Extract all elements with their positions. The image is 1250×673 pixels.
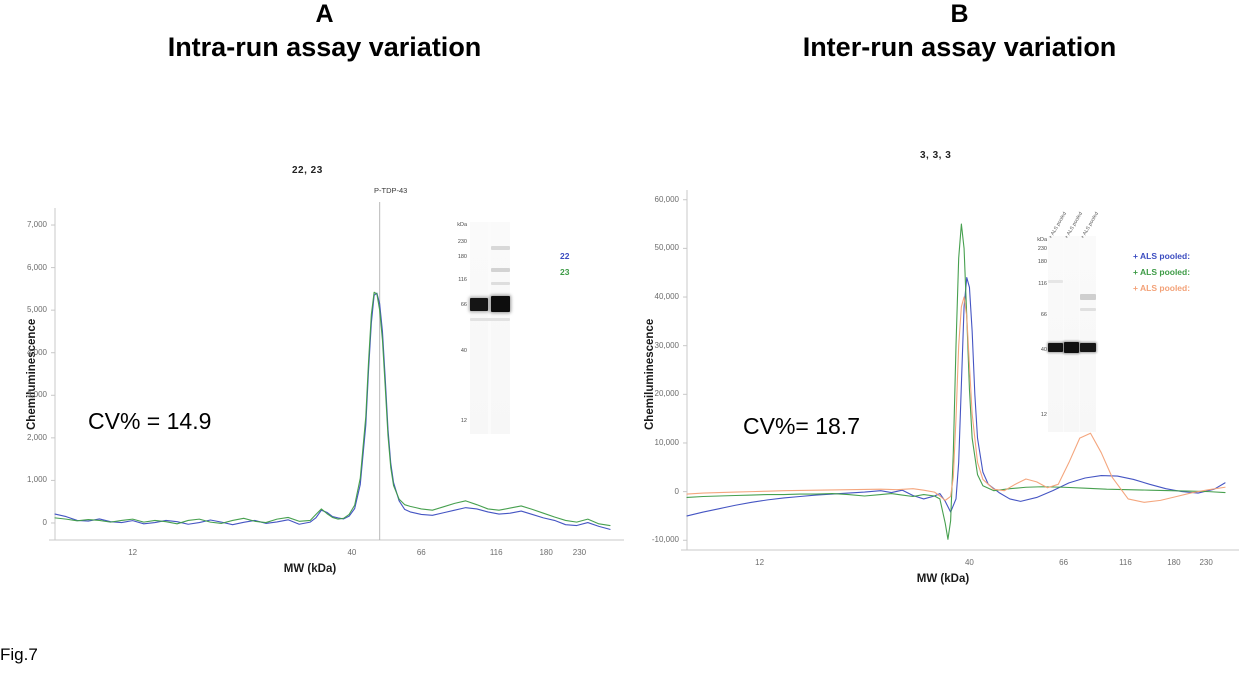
panel-a-letter: A — [12, 0, 637, 29]
blot-lane-2 — [491, 222, 510, 434]
panel-a: A Intra-run assay variation 22, 23 Chemi… — [0, 0, 625, 673]
ytick-label: 6,000 — [0, 263, 47, 272]
panel-b-blot-image — [1048, 236, 1096, 432]
panel-a-legend: 22 23 — [560, 248, 569, 280]
blot-b-band-faint-116 — [1048, 280, 1063, 283]
figure-caption: Fig.7 — [0, 645, 38, 665]
blot-band-faint-lower — [470, 318, 510, 321]
ytick-label: 5,000 — [0, 305, 47, 314]
ytick-label: 20,000 — [627, 389, 679, 398]
blot-b-ladder-116: 116 — [1023, 281, 1047, 287]
panel-a-title: Intra-run assay variation — [12, 32, 637, 63]
panel-a-ylabel: Chemiluminescence — [26, 319, 38, 430]
panel-a-chart-head: 22, 23 — [292, 165, 323, 176]
xtick-label: 116 — [476, 548, 516, 557]
ytick-label: 1,000 — [0, 475, 47, 484]
blot-b-band-faint-55 — [1080, 308, 1096, 311]
ytick-label: 7,000 — [0, 220, 47, 229]
ytick-label: 3,000 — [0, 390, 47, 399]
xtick-label: 230 — [1186, 558, 1226, 567]
panel-b-chart-head: 3, 3, 3 — [920, 150, 951, 161]
blot-b-band-faint-66 — [1080, 294, 1096, 300]
legend-item-als-2: + ALS pooled: — [1133, 264, 1190, 280]
panel-b: B Inter-run assay variation 3, 3, 3 Chem… — [625, 0, 1250, 673]
panel-a-trace-svg — [0, 180, 625, 580]
blot-ladder-66: 66 — [443, 302, 467, 308]
blot-lane-1 — [470, 222, 488, 434]
ytick-label: 0 — [627, 487, 679, 496]
blot-band-2 — [491, 296, 510, 312]
panel-b-trace-svg — [625, 180, 1250, 580]
blot-b-ladder-40: 40 — [1023, 347, 1047, 353]
ytick-label: 30,000 — [627, 341, 679, 350]
panel-b-legend: + ALS pooled: + ALS pooled: + ALS pooled… — [1133, 248, 1190, 296]
ytick-label: -10,000 — [627, 535, 679, 544]
xtick-label: 66 — [401, 548, 441, 557]
panel-b-plot — [625, 180, 1250, 580]
panel-a-peak-label: P-TDP-43 — [374, 186, 407, 195]
blot-ladder-40: 40 — [443, 348, 467, 354]
blot-band-faint-116 — [491, 268, 510, 272]
xtick-label: 40 — [949, 558, 989, 567]
blot-ladder-116: 116 — [443, 277, 467, 283]
blot-b-lane-3 — [1080, 236, 1096, 432]
panel-a-blot-image — [470, 222, 510, 434]
xtick-label: 40 — [332, 548, 372, 557]
blot-b-lane-1 — [1048, 236, 1063, 432]
blot-band-faint-230 — [491, 246, 510, 250]
ytick-label: 50,000 — [627, 243, 679, 252]
blot-ladder-230: 230 — [443, 239, 467, 245]
xtick-label: 66 — [1044, 558, 1084, 567]
blot-b-ladder-12: 12 — [1023, 412, 1047, 418]
panel-b-title: Inter-run assay variation — [647, 32, 1250, 63]
xtick-label: 12 — [740, 558, 780, 567]
legend-item-22: 22 — [560, 248, 569, 264]
panel-b-cv-value: CV%= 18.7 — [743, 413, 860, 440]
blot-ladder-12: 12 — [443, 418, 467, 424]
ytick-label: 4,000 — [0, 348, 47, 357]
blot-b-band-1 — [1048, 343, 1063, 352]
panel-a-plot — [0, 180, 625, 580]
xtick-label: 230 — [559, 548, 599, 557]
blot-b-lane-2 — [1064, 236, 1079, 432]
ytick-label: 10,000 — [627, 438, 679, 447]
ytick-label: 40,000 — [627, 292, 679, 301]
blot-b-ladder-230: 230 — [1023, 246, 1047, 252]
panel-b-letter: B — [647, 0, 1250, 29]
ytick-label: 60,000 — [627, 195, 679, 204]
xtick-label: 116 — [1105, 558, 1145, 567]
legend-item-als-1: + ALS pooled: — [1133, 248, 1190, 264]
blot-b-band-2 — [1064, 342, 1079, 353]
blot-b-band-3 — [1080, 343, 1096, 352]
panel-a-cv-value: CV% = 14.9 — [88, 408, 211, 435]
blot-ladder-180: 180 — [443, 254, 467, 260]
ytick-label: 0 — [0, 518, 47, 527]
legend-item-23: 23 — [560, 264, 569, 280]
blot-b-ladder-180: 180 — [1023, 259, 1047, 265]
blot-band-1 — [470, 298, 488, 311]
legend-item-als-3: + ALS pooled: — [1133, 280, 1190, 296]
blot-ladder-kDa: kDa — [443, 222, 467, 228]
blot-band-faint-80 — [491, 282, 510, 285]
ytick-label: 2,000 — [0, 433, 47, 442]
panel-b-ylabel: Chemiluminescence — [644, 319, 656, 430]
panel-b-xlabel: MW (kDa) — [883, 573, 1003, 585]
blot-b-ladder-kDa: kDa — [1023, 237, 1047, 243]
blot-b-ladder-66: 66 — [1023, 312, 1047, 318]
panel-a-xlabel: MW (kDa) — [250, 563, 370, 575]
xtick-label: 12 — [113, 548, 153, 557]
